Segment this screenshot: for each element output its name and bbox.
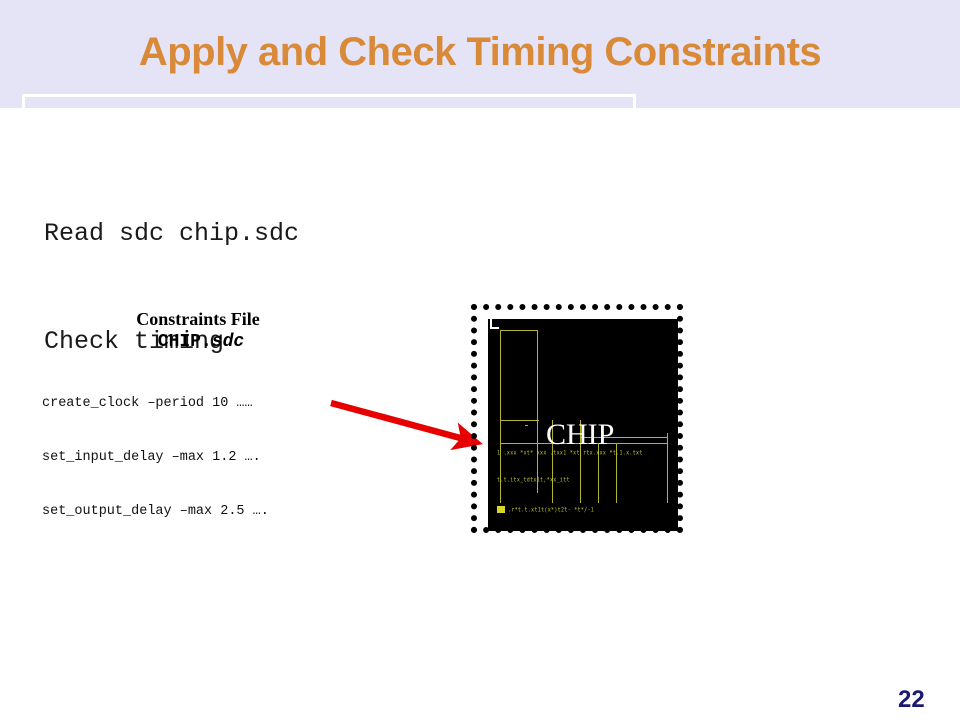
title-underline-box [22,94,636,116]
constraint-line-set-output-delay: set_output_delay –max 2.5 …. [42,503,342,521]
chip-label: CHIP [546,419,614,451]
chip-layout-line [500,330,538,331]
constraint-line-create-clock: create_clock –period 10 …… [42,395,342,413]
chip-micro-marker-icon [497,506,505,513]
chip-layout-line [667,433,668,503]
chip-layout-line [525,425,528,426]
constraints-file-name-base: CHIP. [158,332,212,352]
constraints-file-name: CHIP.sdc [42,330,342,354]
chip-layout-line [537,330,538,493]
constraints-file-name-ext: sdc [212,332,244,352]
constraint-line-set-input-delay: set_input_delay –max 1.2 …. [42,449,342,467]
chip-corner-marker-icon [490,319,499,329]
slide-title-banner: Apply and Check Timing Constraints [0,0,960,108]
chip-micro-label: 1 .xxx *xt* xxx .txx1 *xt rtx.xxx *t.1.x… [497,450,643,457]
chip-micro-label: t.t.itx_tdtx1t,*xx_itt [497,477,570,484]
chip-layout-line [500,420,539,421]
page-title: Apply and Check Timing Constraints [0,30,960,75]
chip-micro-label: .r*t.t.xt1t(x*)t2t· *t*/·1 [508,507,594,514]
chip-layout-canvas: CHIP 1 .xxx *xt* xxx .txx1 *xt rtx.xxx *… [488,319,678,531]
red-arrow-icon [320,390,490,460]
constraints-file-contents: create_clock –period 10 …… set_input_del… [42,359,342,557]
chip-layout-figure: CHIP 1 .xxx *xt* xxx .txx1 *xt rtx.xxx *… [471,304,683,533]
page-number: 22 [898,686,925,714]
constraints-file-heading: Constraints File [42,308,342,330]
command-line-read-sdc: Read sdc chip.sdc [44,216,299,252]
constraints-file-panel: Constraints File CHIP.sdc create_clock –… [42,308,342,557]
